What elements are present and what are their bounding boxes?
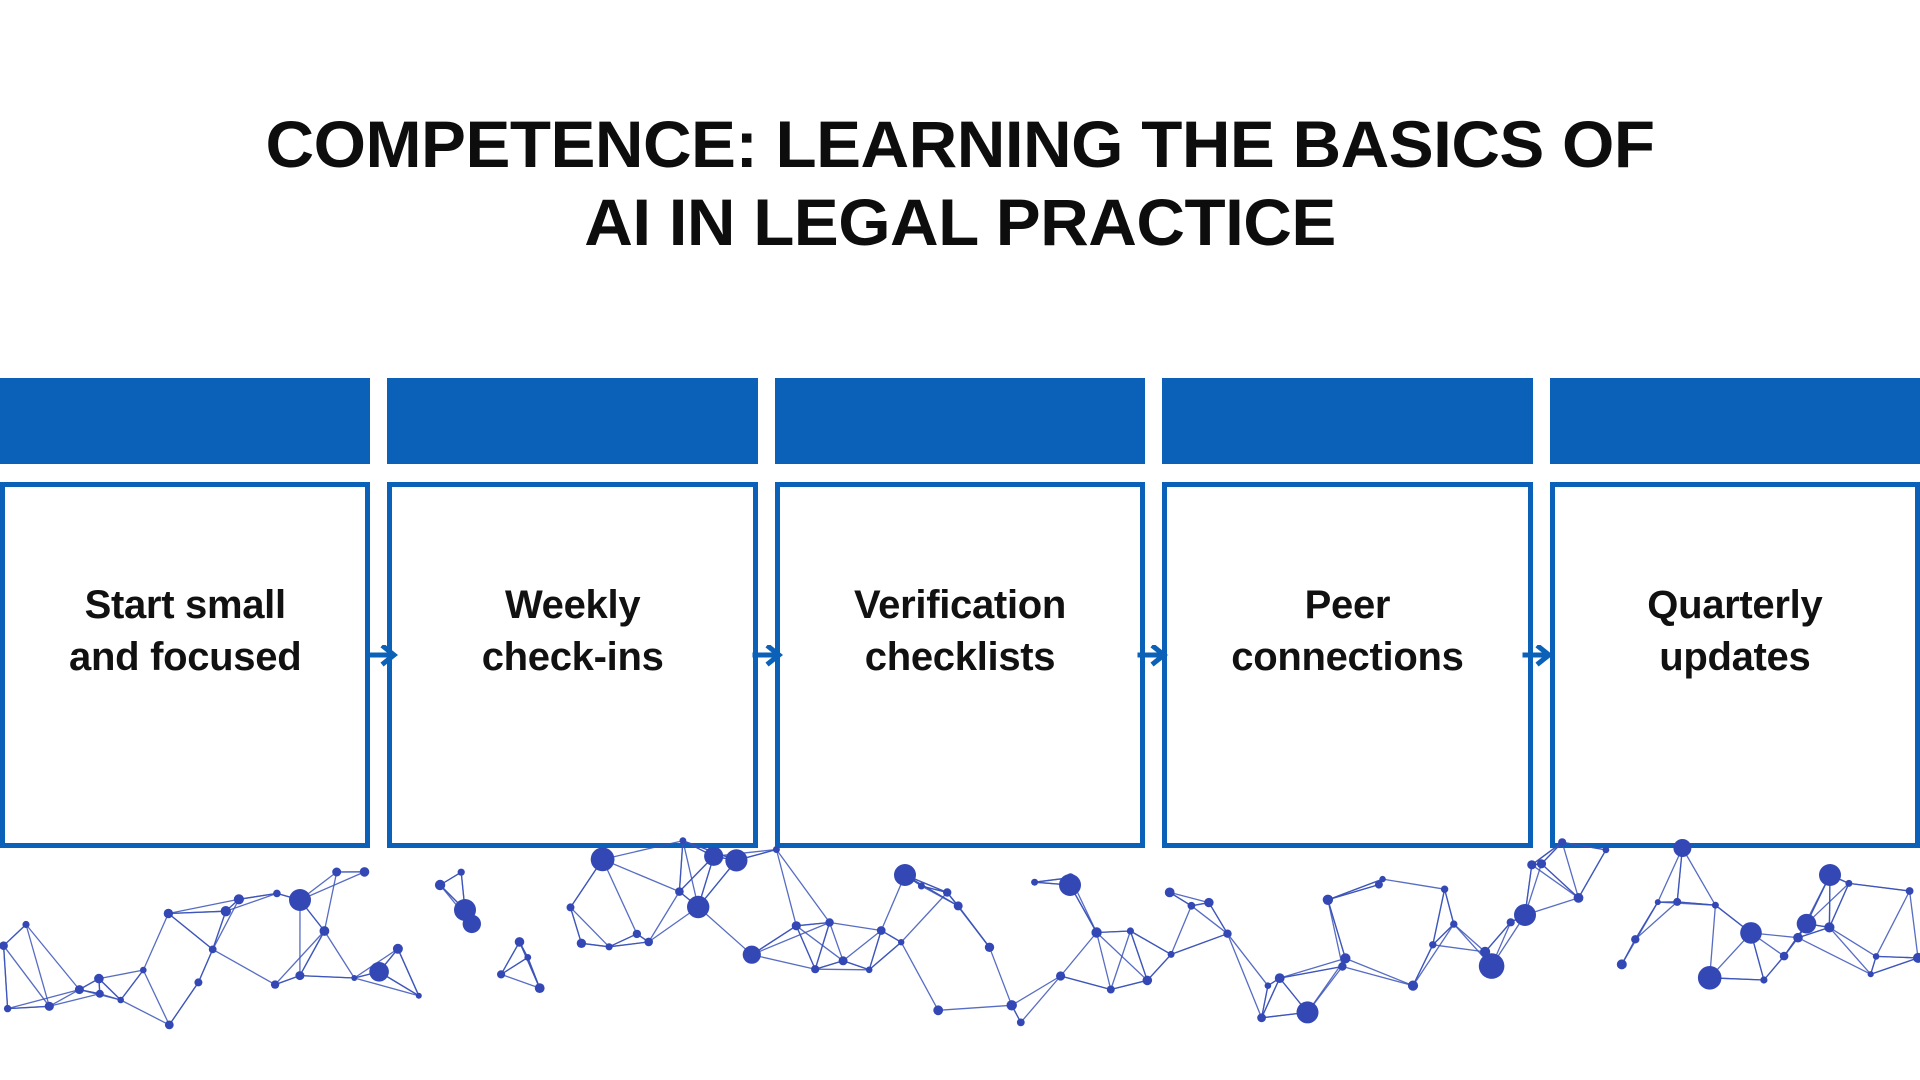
step-card-2-header (387, 378, 757, 464)
step-card-2[interactable]: Weekly check-ins (387, 378, 757, 848)
step-card-2-label: Weekly check-ins (482, 579, 664, 683)
step-card-3-body: Verification checklists (775, 482, 1145, 848)
slide-canvas: COMPETENCE: LEARNING THE BASICS OF AI IN… (0, 0, 1920, 1080)
page-title: COMPETENCE: LEARNING THE BASICS OF AI IN… (0, 105, 1920, 261)
steps-row: Start small and focused Weekly check-ins… (0, 378, 1920, 848)
step-card-4-body: Peer connections (1162, 482, 1532, 848)
step-card-5-header (1550, 378, 1920, 464)
step-card-5-spacer (1550, 464, 1920, 482)
step-card-1-spacer (0, 464, 370, 482)
network-nodes (0, 837, 1920, 1029)
step-card-3[interactable]: Verification checklists (775, 378, 1145, 848)
step-card-2-body: Weekly check-ins (387, 482, 757, 848)
step-card-5[interactable]: Quarterly updates (1550, 378, 1920, 848)
step-card-1-body: Start small and focused (0, 482, 370, 848)
step-card-3-spacer (775, 464, 1145, 482)
step-card-3-header (775, 378, 1145, 464)
step-card-1-header (0, 378, 370, 464)
step-card-2-spacer (387, 464, 757, 482)
step-card-4[interactable]: Peer connections (1162, 378, 1532, 848)
page-title-line-1: COMPETENCE: LEARNING THE BASICS OF (0, 105, 1920, 183)
network-edges (4, 841, 1918, 1025)
step-card-3-label: Verification checklists (854, 579, 1066, 683)
step-card-5-label: Quarterly updates (1647, 579, 1822, 683)
step-card-4-spacer (1162, 464, 1532, 482)
step-card-1[interactable]: Start small and focused (0, 378, 370, 848)
step-card-4-header (1162, 378, 1532, 464)
page-title-line-2: AI IN LEGAL PRACTICE (0, 183, 1920, 261)
step-card-5-body: Quarterly updates (1550, 482, 1920, 848)
step-card-1-label: Start small and focused (69, 579, 301, 683)
step-card-4-label: Peer connections (1231, 579, 1463, 683)
